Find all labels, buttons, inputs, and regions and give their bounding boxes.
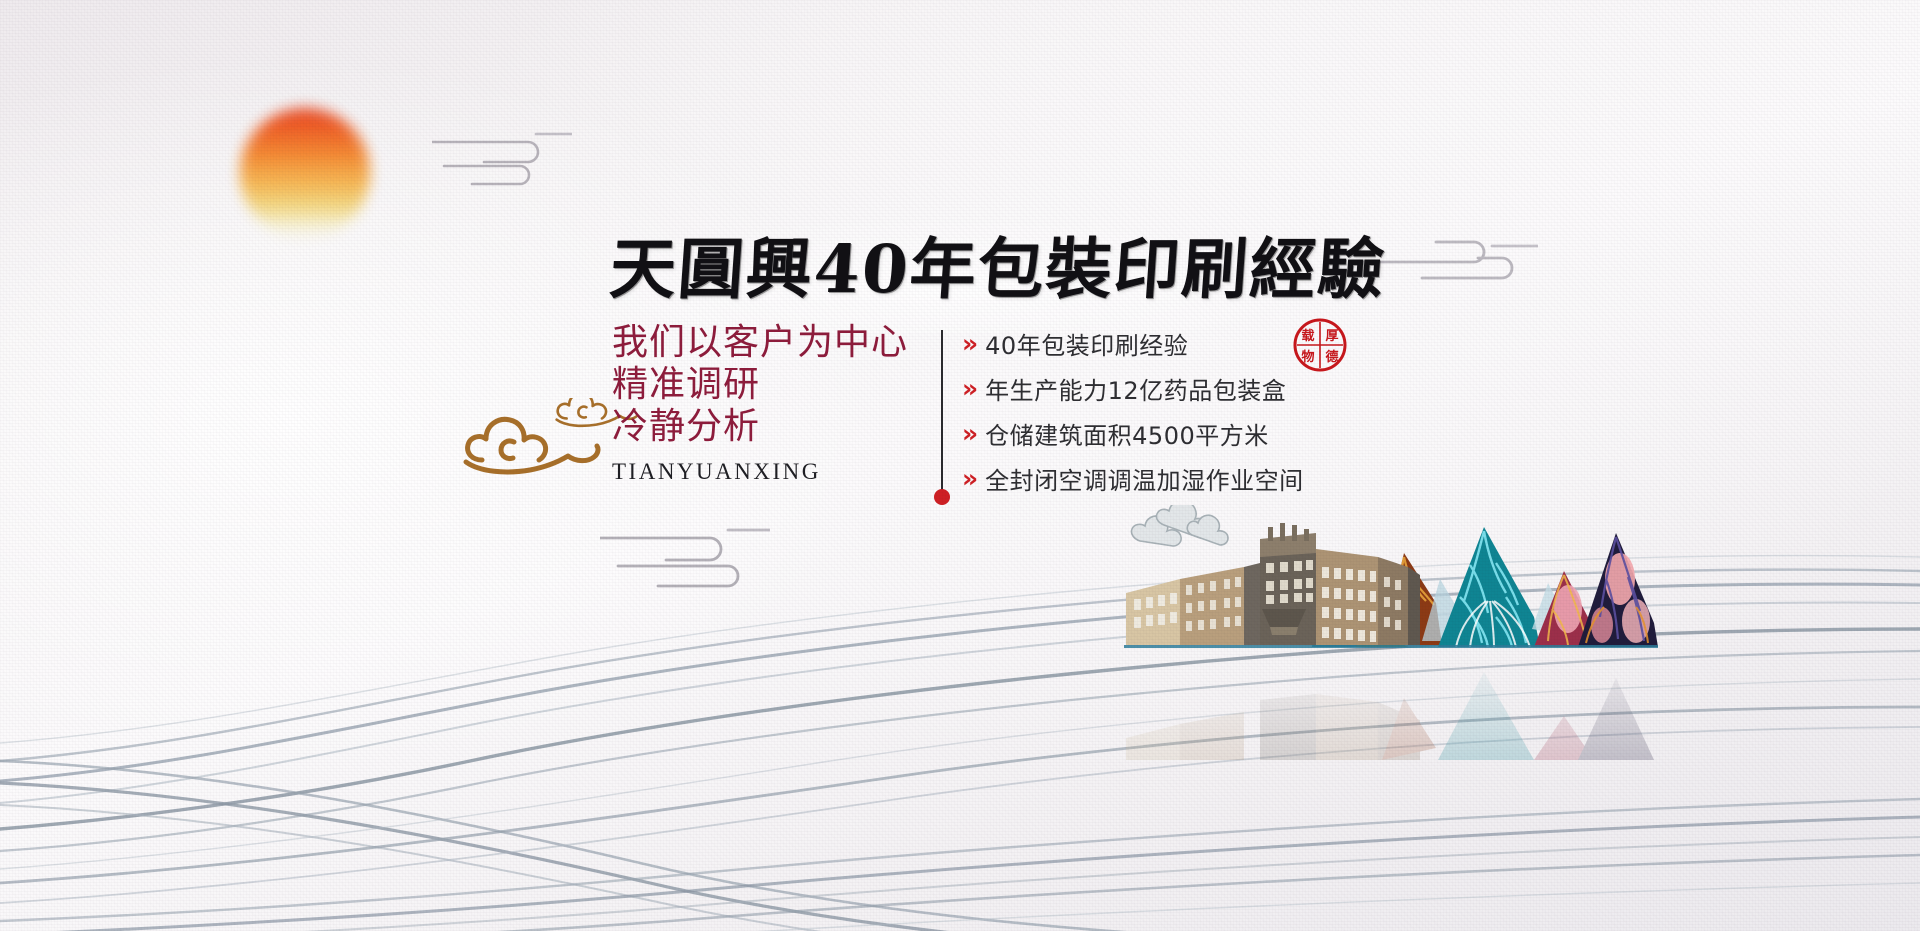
hero-banner: 天圓興40年包裝印刷經驗 我们以客户为中心 精准调研 冷静分析 TIANYUAN… <box>0 0 1920 931</box>
scenery-illustration <box>1120 505 1660 695</box>
seal-stamp-icon: 载 厚 物 德 <box>1292 317 1348 373</box>
list-item: » 年生产能力12亿药品包装盒 <box>962 370 1482 406</box>
slogan-line-1: 我们以客户为中心 <box>612 322 908 364</box>
list-item: » 仓储建筑面积4500平方米 <box>962 415 1482 451</box>
slogan-pinyin: TIANYUANXING <box>612 459 908 485</box>
slogan-line-2: 精准调研 <box>612 364 908 406</box>
double-chevron-icon: » <box>962 466 978 491</box>
list-item: » 40年包装印刷经验 <box>962 325 1482 361</box>
slogan-line-3: 冷静分析 <box>612 406 908 448</box>
ground-line <box>1124 645 1658 648</box>
seal-char-1: 载 <box>1301 328 1314 344</box>
gray-cloud-icon <box>1131 505 1228 546</box>
feature-list: » 40年包装印刷经验 » 年生产能力12亿药品包装盒 » 仓储建筑面积4500… <box>962 325 1482 505</box>
double-chevron-icon: » <box>962 376 978 401</box>
vertical-divider <box>941 330 943 492</box>
slogan-block: 我们以客户为中心 精准调研 冷静分析 TIANYUANXING <box>612 322 908 485</box>
sun-icon <box>240 108 370 238</box>
divider-dot-icon <box>934 489 950 505</box>
cloud-line-icon-top-left <box>432 130 572 197</box>
page-title: 天圓興40年包裝印刷經驗 <box>608 236 1388 302</box>
feature-text: 年生产能力12亿药品包装盒 <box>985 371 1286 406</box>
list-item: » 全封闭空调调温加湿作业空间 <box>962 460 1482 496</box>
mountain-cyan-large <box>1438 527 1540 647</box>
seal-char-3: 物 <box>1301 349 1314 365</box>
seal-char-2: 厚 <box>1325 328 1338 344</box>
feature-text: 仓储建筑面积4500平方米 <box>985 416 1269 451</box>
cloud-line-icon-right <box>1378 232 1538 299</box>
feature-text: 40年包装印刷经验 <box>985 326 1188 361</box>
feature-text: 全封闭空调调温加湿作业空间 <box>985 461 1304 496</box>
double-chevron-icon: » <box>962 331 978 356</box>
double-chevron-icon: » <box>962 421 978 446</box>
seal-char-4: 德 <box>1325 349 1338 365</box>
